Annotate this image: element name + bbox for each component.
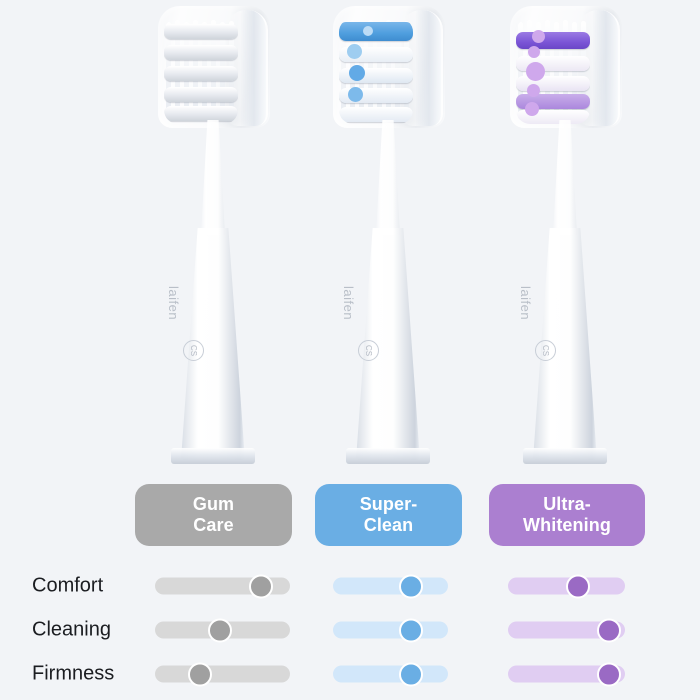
slider-comfort-gum-care[interactable]: [155, 578, 290, 595]
slider-cleaning-super-clean[interactable]: [333, 622, 448, 639]
attribute-label-comfort: Comfort: [32, 575, 103, 598]
brand-logo: laifen: [166, 286, 181, 320]
product-label-row: Gum Care Super- Clean Ultra- Whitening: [0, 484, 700, 548]
pill-line-2: Whitening: [523, 515, 611, 535]
slider-knob[interactable]: [399, 662, 423, 686]
slider-comfort-ultra-whitening[interactable]: [508, 578, 625, 595]
slider-cleaning-ultra-whitening[interactable]: [508, 622, 625, 639]
pill-line-1: Gum: [193, 494, 234, 514]
handle-base: [523, 448, 607, 464]
slider-knob[interactable]: [597, 662, 621, 686]
attribute-row-firmness: Firmness: [0, 652, 700, 696]
product-pill-super-clean[interactable]: Super- Clean: [315, 484, 462, 546]
product-pill-gum-care[interactable]: Gum Care: [135, 484, 292, 546]
handle-highlight: [372, 232, 383, 442]
brush-gum-care[interactable]: laifen CS: [133, 0, 293, 470]
pill-line-2: Clean: [364, 515, 414, 535]
slider-knob[interactable]: [208, 618, 232, 642]
brush-neck: [368, 120, 408, 235]
bristle-field-gum-care: [164, 18, 238, 124]
slider-knob[interactable]: [188, 662, 212, 686]
brush-super-clean[interactable]: laifen CS: [308, 0, 468, 470]
handle-highlight: [197, 232, 208, 442]
attribute-label-cleaning: Cleaning: [32, 619, 111, 642]
brush-head-capsule: [333, 6, 445, 128]
model-badge: CS: [358, 340, 379, 361]
product-comparison-page: laifen CS: [0, 0, 700, 700]
handle-base: [346, 448, 430, 464]
brush-head-gallery: laifen CS: [0, 0, 700, 470]
brand-logo: laifen: [341, 286, 356, 320]
handle-highlight: [549, 232, 560, 442]
brush-ultra-whitening[interactable]: laifen CS: [485, 0, 645, 470]
slider-knob[interactable]: [249, 574, 273, 598]
brush-neck: [193, 120, 233, 235]
brush-neck: [545, 120, 585, 235]
attribute-comparison-table: Comfort Cleaning Firmness: [0, 564, 700, 696]
attribute-label-firmness: Firmness: [32, 663, 114, 686]
brush-head-capsule: [158, 6, 270, 128]
brand-logo: laifen: [518, 286, 533, 320]
slider-knob[interactable]: [399, 618, 423, 642]
brush-head-capsule: [510, 6, 622, 128]
slider-knob[interactable]: [566, 574, 590, 598]
product-pill-ultra-whitening[interactable]: Ultra- Whitening: [489, 484, 645, 546]
slider-firmness-ultra-whitening[interactable]: [508, 666, 625, 683]
slider-knob[interactable]: [597, 618, 621, 642]
model-badge: CS: [535, 340, 556, 361]
pill-line-1: Super-: [360, 494, 418, 514]
slider-cleaning-gum-care[interactable]: [155, 622, 290, 639]
pill-line-2: Care: [193, 515, 233, 535]
slider-firmness-gum-care[interactable]: [155, 666, 290, 683]
bristle-field-super-clean: [339, 18, 413, 124]
slider-knob[interactable]: [399, 574, 423, 598]
attribute-row-cleaning: Cleaning: [0, 608, 700, 652]
pill-line-1: Ultra-: [543, 494, 591, 514]
model-badge: CS: [183, 340, 204, 361]
bristle-field-ultra-whitening: [516, 18, 590, 124]
slider-firmness-super-clean[interactable]: [333, 666, 448, 683]
slider-comfort-super-clean[interactable]: [333, 578, 448, 595]
attribute-row-comfort: Comfort: [0, 564, 700, 608]
handle-base: [171, 448, 255, 464]
